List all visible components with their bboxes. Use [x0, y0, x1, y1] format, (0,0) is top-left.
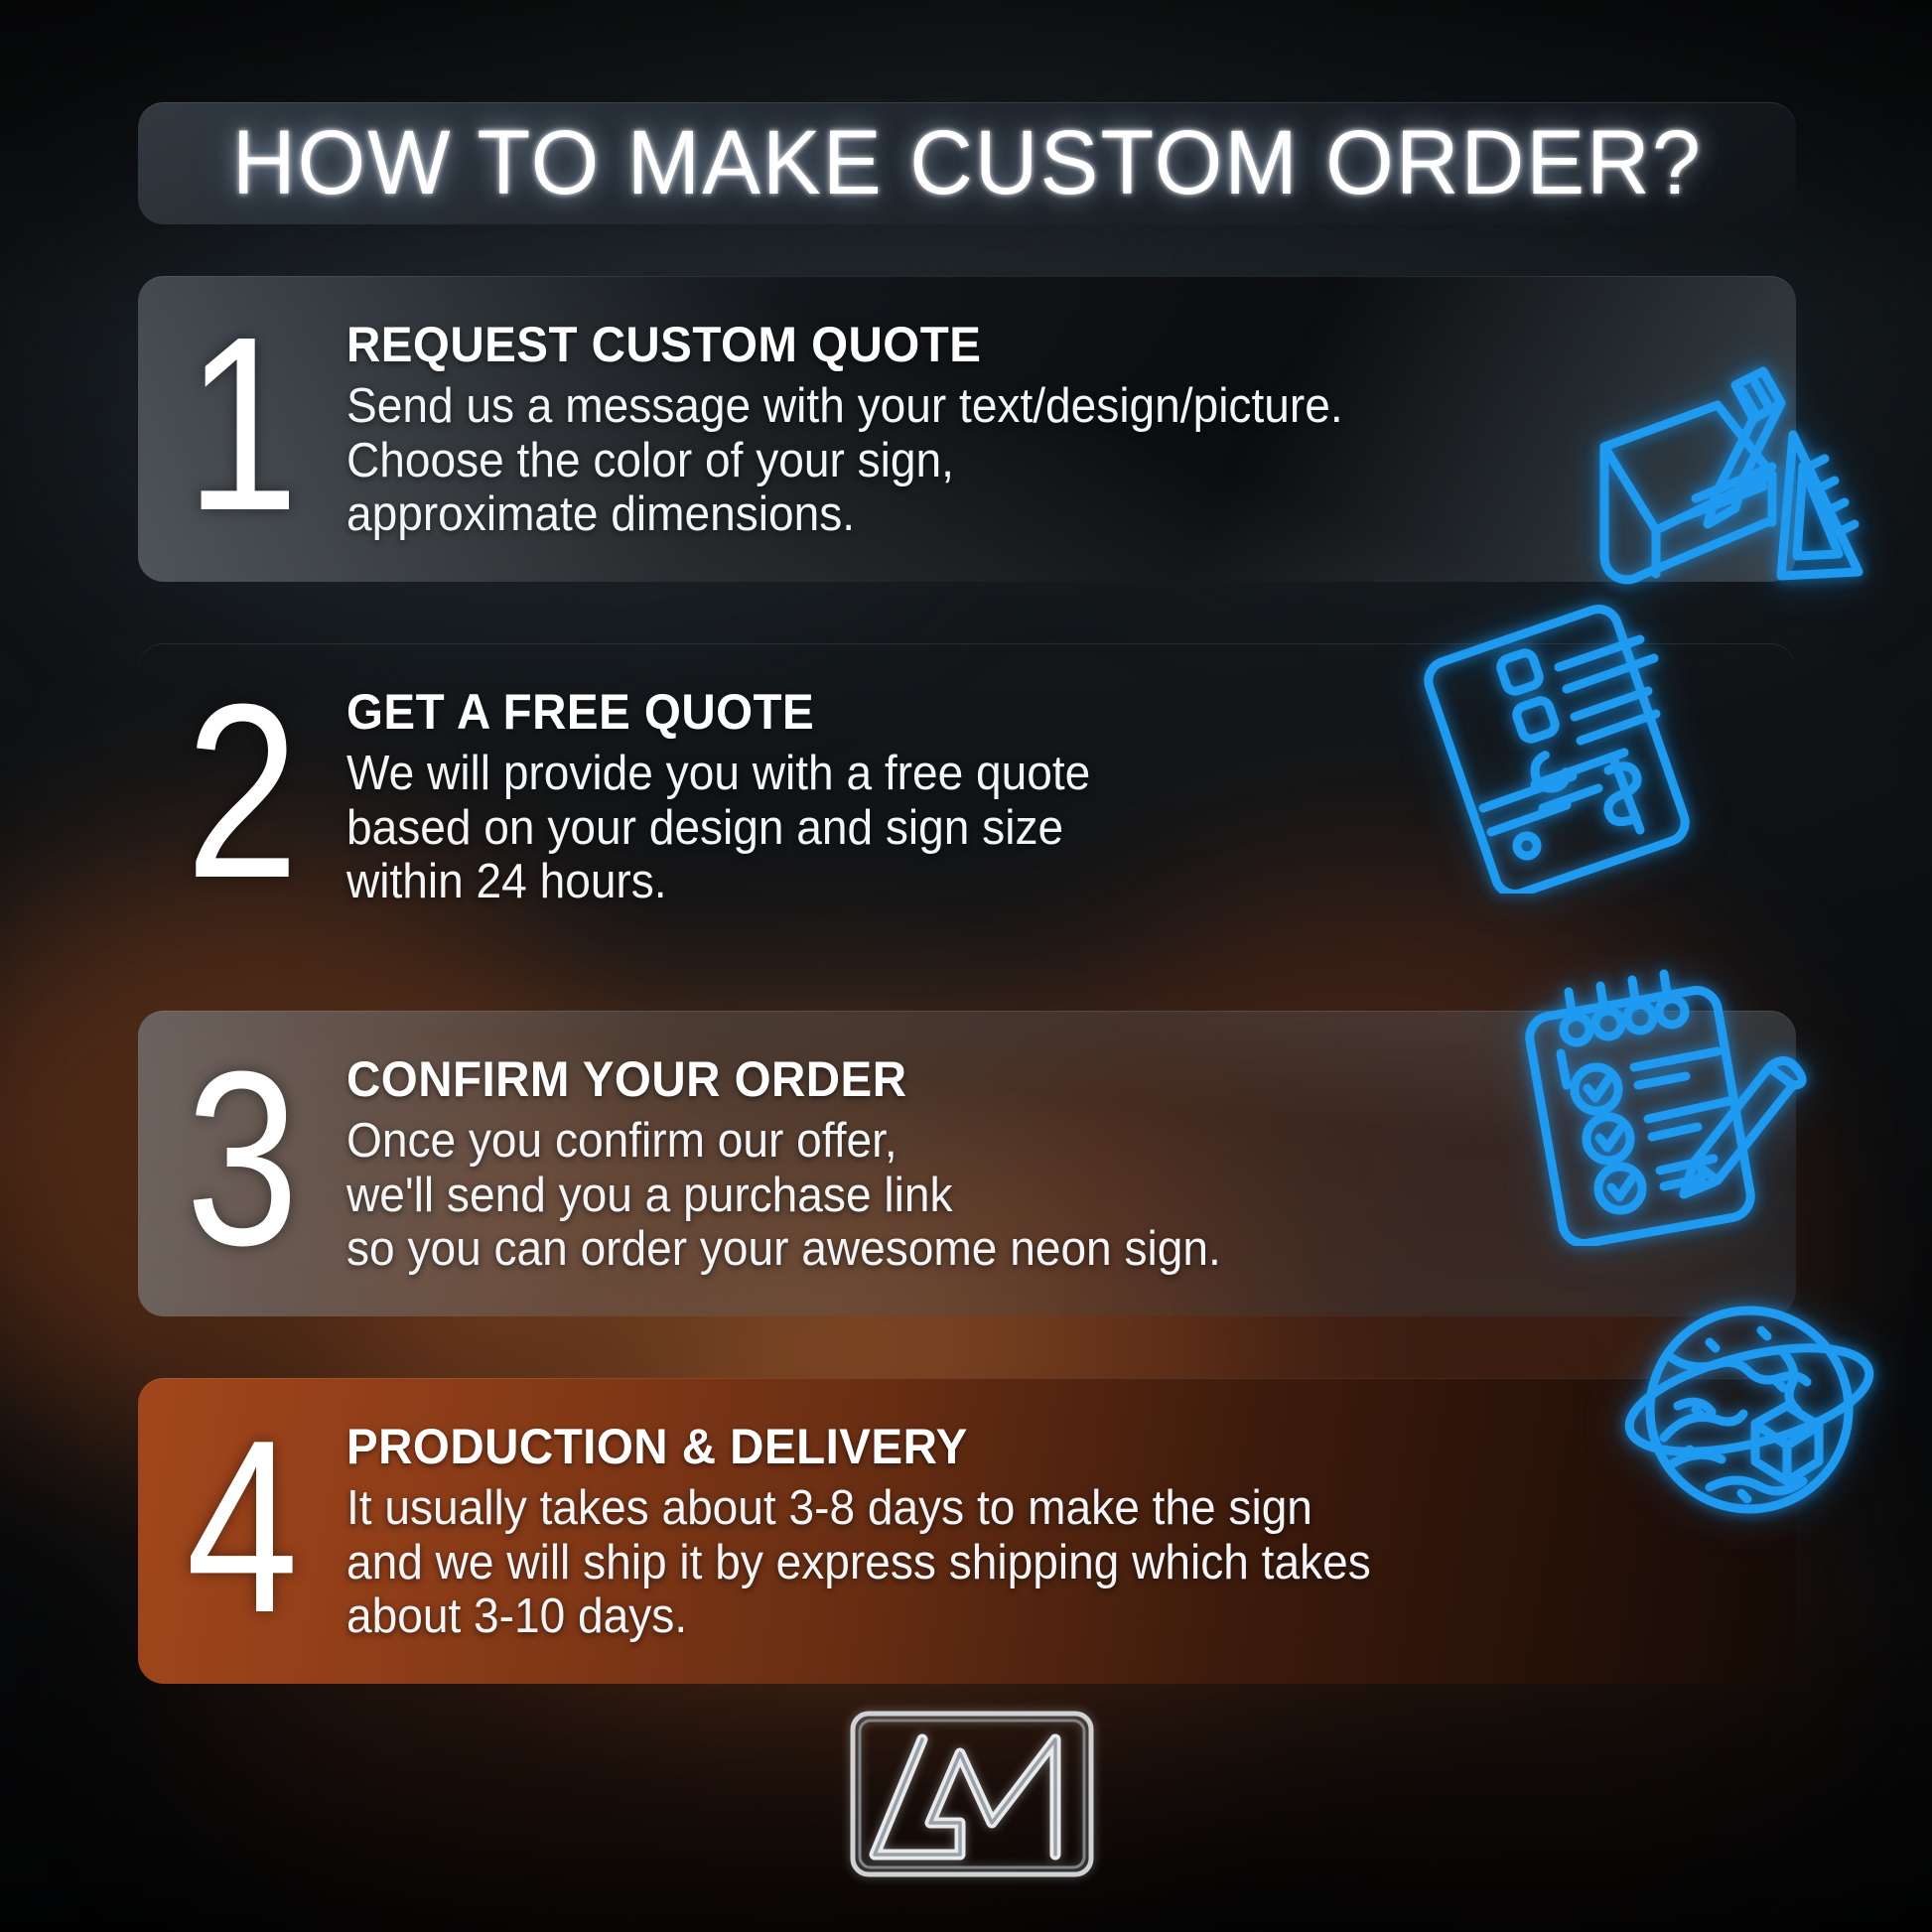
step-line: Once you confirm our offer,	[346, 1114, 1681, 1169]
page-title: HOW TO MAKE CUSTOM ORDER?	[232, 111, 1703, 215]
step-line: and we will ship it by express shipping …	[346, 1536, 1681, 1590]
step-line: we'll send you a purchase link	[346, 1169, 1681, 1223]
step-line: so you can order your awesome neon sign.	[346, 1222, 1681, 1277]
neon-brand-monogram	[845, 1706, 1099, 1882]
step-body-3: Once you confirm our offer, we'll send y…	[346, 1114, 1681, 1278]
step-line: Choose the color of your sign,	[346, 434, 1681, 488]
title-banner: HOW TO MAKE CUSTOM ORDER?	[138, 102, 1796, 224]
step-line: based on your design and sign size	[346, 801, 1681, 856]
step-line: approximate dimensions.	[346, 487, 1681, 542]
step-line: It usually takes about 3-8 days to make …	[346, 1481, 1681, 1536]
step-card-2: 2 GET A FREE QUOTE We will provide you w…	[138, 643, 1796, 949]
step-card-3: 3 CONFIRM YOUR ORDER Once you confirm ou…	[138, 1011, 1796, 1316]
step-number-3: 3	[157, 1011, 328, 1316]
step-body-4: It usually takes about 3-8 days to make …	[346, 1481, 1681, 1645]
step-line: We will provide you with a free quote	[346, 747, 1681, 801]
step-heading-3: CONFIRM YOUR ORDER	[346, 1050, 1696, 1108]
step-heading-4: PRODUCTION & DELIVERY	[346, 1418, 1696, 1475]
step-number-2: 2	[157, 643, 328, 949]
step-number-4: 4	[157, 1378, 328, 1684]
step-card-4: 4 PRODUCTION & DELIVERY It usually takes…	[138, 1378, 1796, 1684]
infographic-canvas: HOW TO MAKE CUSTOM ORDER? 1 REQUEST CUST…	[0, 0, 1932, 1932]
step-heading-1: REQUEST CUSTOM QUOTE	[346, 316, 1696, 373]
step-card-1: 1 REQUEST CUSTOM QUOTE Send us a message…	[138, 276, 1796, 582]
step-line: within 24 hours.	[346, 855, 1681, 909]
step-number-1: 1	[157, 276, 328, 582]
step-body-2: We will provide you with a free quote ba…	[346, 747, 1681, 910]
step-heading-2: GET A FREE QUOTE	[346, 683, 1696, 741]
step-body-1: Send us a message with your text/design/…	[346, 379, 1681, 543]
step-line: Send us a message with your text/design/…	[346, 379, 1681, 434]
step-line: about 3-10 days.	[346, 1589, 1681, 1644]
